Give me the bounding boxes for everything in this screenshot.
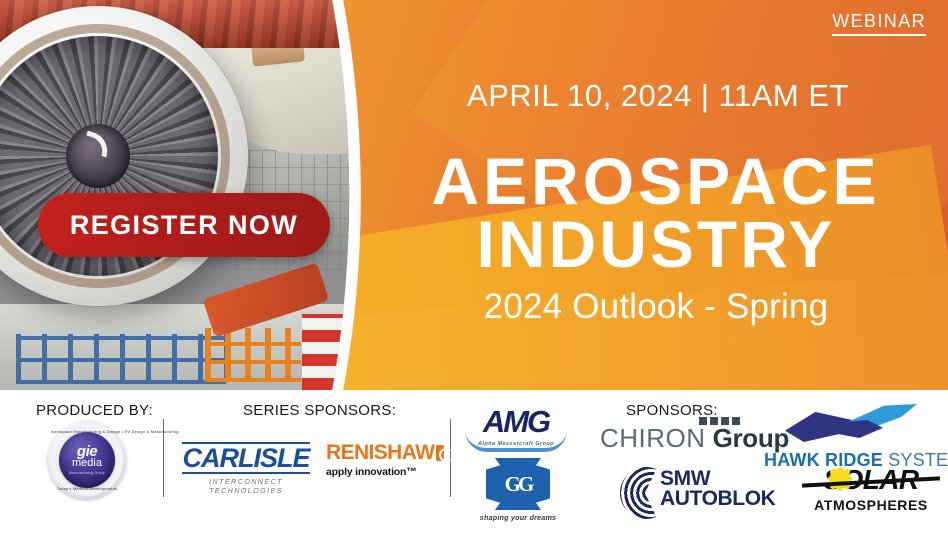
amg-logo[interactable]: AMG Alpha Messercraft Group [463, 406, 569, 447]
chiron-dots-icon [699, 417, 740, 425]
carlisle-wordmark: CARLISLE [182, 442, 310, 474]
blue-scaffold [16, 334, 226, 384]
chiron-wordmark: CHIRON [600, 423, 706, 454]
solar-wordmark-row: SOLAR [800, 466, 942, 496]
gg-logo[interactable]: GG shaping your dreams [470, 458, 566, 522]
renishaw-symbol-icon [436, 445, 444, 461]
carlisle-tagline: INTERCONNECT TECHNOLOGIES [182, 477, 310, 495]
renishaw-tagline: apply innovation™ [326, 466, 444, 478]
smw-line-2: AUTOBLOK [660, 489, 775, 509]
sponsor-footer: PRODUCED BY: SERIES SPONSORS: SPONSORS: … [0, 390, 948, 533]
hero-section: WEBINAR APRIL 10, 2024 | 11AM ET AEROSPA… [0, 0, 948, 390]
gie-media-wordmark-media: media [72, 458, 102, 469]
solar-tagline: ATMOSPHERES [800, 497, 942, 513]
smw-line-1: SMW [660, 469, 775, 489]
gie-media-microtext: Manufacturing Group [69, 471, 105, 475]
sun-icon [830, 469, 850, 489]
produced-by-heading: PRODUCED BY: [36, 402, 153, 419]
gie-media-core: gie media Manufacturing Group [59, 432, 115, 488]
title-line-1: AEROSPACE [376, 150, 936, 213]
webinar-promo-banner: WEBINAR APRIL 10, 2024 | 11AM ET AEROSPA… [0, 0, 948, 533]
event-date-time: APRIL 10, 2024 | 11AM ET [388, 78, 928, 114]
series-sponsors-heading: SERIES SPONSORS: [243, 402, 396, 419]
renishaw-row: RENISHAW [326, 442, 444, 463]
smw-wordmark: SMW AUTOBLOK [660, 469, 775, 509]
carlisle-logo[interactable]: CARLISLE INTERCONNECT TECHNOLOGIES [182, 442, 310, 495]
hawk-bird-icon [785, 404, 917, 448]
solar-atmospheres-logo[interactable]: SOLAR ATMOSPHERES [800, 466, 942, 513]
page-subtitle: 2024 Outlook - Spring [376, 287, 936, 327]
gg-emblem-icon: GG [486, 458, 550, 510]
chiron-row: CHIRON Group [600, 423, 750, 454]
title-line-2: INDUSTRY [376, 213, 936, 276]
gie-media-logo[interactable]: Aerospace Manufacturing & Design • EV De… [48, 421, 126, 499]
hawk-ridge-systems-logo[interactable]: HAWK RIDGE SYSTEMS [764, 404, 938, 471]
gg-monogram: GG [505, 472, 532, 497]
renishaw-wordmark: RENISHAW [326, 442, 434, 463]
register-now-button[interactable]: REGISTER NOW [38, 193, 330, 257]
gg-tagline: shaping your dreams [470, 513, 566, 522]
page-title: AEROSPACE INDUSTRY 2024 Outlook - Spring [376, 150, 936, 327]
renishaw-logo[interactable]: RENISHAW apply innovation™ [326, 442, 444, 478]
chiron-group-logo[interactable]: CHIRON Group [600, 423, 750, 454]
amg-swoosh-icon [465, 430, 567, 452]
webinar-label: WEBINAR [832, 12, 926, 36]
